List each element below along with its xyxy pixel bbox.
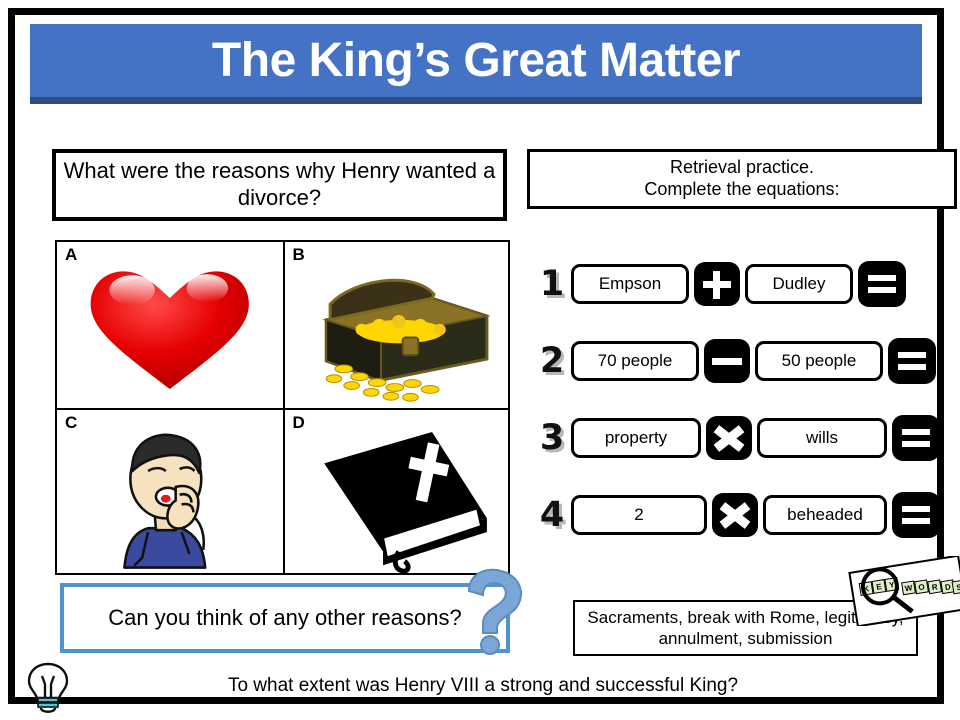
minus-icon [704,339,750,383]
equation-left-term[interactable]: 2 [571,495,707,535]
equation-number: 1 [533,264,571,304]
equation-row-4: 4 2 beheaded [533,489,945,541]
equation-row-1: 1 Empson Dudley [533,258,911,310]
left-question-box: What were the reasons why Henry wanted a… [52,149,507,221]
equation-right-term[interactable]: wills [757,418,887,458]
plus-icon [694,262,740,306]
svg-text:S: S [956,583,960,593]
equation-number: 4 [533,495,571,535]
heart-icon [57,242,283,408]
equation-row-3: 3 property wills [533,412,945,464]
grid-cell-d[interactable]: D [283,408,509,574]
title-banner: The King’s Great Matter [30,24,922,104]
equation-left-term[interactable]: property [571,418,701,458]
footer-question: To what extent was Henry VIII a strong a… [15,675,951,697]
equals-icon [892,492,940,538]
slide-frame: The King’s Great Matter What were the re… [8,8,944,704]
equation-row-2: 2 70 people 50 people [533,335,941,387]
bible-icon [285,410,509,574]
equation-right-term[interactable]: 50 people [755,341,883,381]
think-prompt-box: Can you think of any other reasons? [60,583,510,653]
equation-right-term[interactable]: Dudley [745,264,853,304]
reasons-image-grid: A B [55,240,510,575]
equation-left-term[interactable]: 70 people [571,341,699,381]
equation-number: 3 [533,418,571,458]
grid-cell-c[interactable]: C [57,408,283,574]
page-title: The King’s Great Matter [30,24,922,97]
retrieval-practice-label: Retrieval practice. Complete the equatio… [644,157,839,201]
equals-icon [858,261,906,307]
equals-icon [888,338,936,384]
retrieval-practice-box: Retrieval practice. Complete the equatio… [527,149,957,209]
multiply-icon [706,416,752,460]
key-words-magnifier-icon: K E Y W O R D S [847,556,960,626]
equation-number: 2 [533,341,571,381]
bored-boy-icon [57,410,283,574]
equation-left-term[interactable]: Empson [571,264,689,304]
equation-right-term[interactable]: beheaded [763,495,887,535]
grid-cell-a[interactable]: A [57,242,283,408]
multiply-icon [712,493,758,537]
question-mark-icon [455,565,535,655]
equals-icon [892,415,940,461]
grid-cell-b[interactable]: B [283,242,509,408]
treasure-chest-icon [285,242,509,408]
